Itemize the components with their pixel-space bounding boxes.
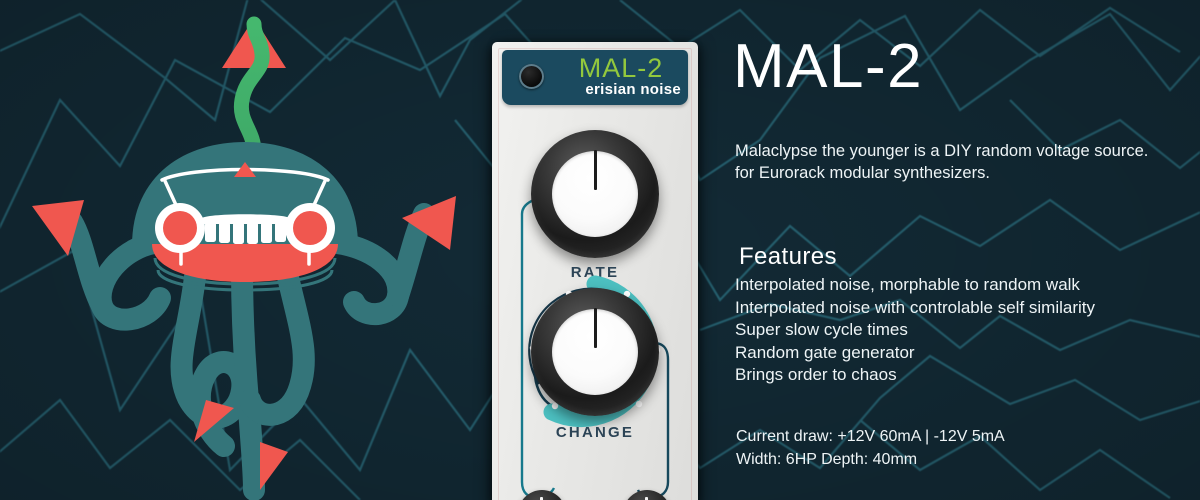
spec-dimensions: Width: 6HP Depth: 40mm bbox=[736, 448, 1196, 471]
change-knob-pointer bbox=[594, 308, 597, 348]
page-title: MAL-2 bbox=[733, 36, 923, 98]
product-description: Malaclypse the younger is a DIY random v… bbox=[735, 140, 1195, 184]
led-indicator-icon bbox=[519, 64, 544, 89]
module-subtitle: erisian noise bbox=[557, 81, 685, 98]
change-knob[interactable] bbox=[531, 288, 659, 416]
features-list: Interpolated noise, morphable to random … bbox=[735, 274, 1195, 387]
list-item: Interpolated noise with controlable self… bbox=[735, 297, 1195, 320]
product-info-column: MAL-2 Malaclypse the younger is a DIY ra… bbox=[733, 0, 1200, 500]
rate-knob-pointer bbox=[594, 150, 597, 190]
rate-knob[interactable] bbox=[531, 130, 659, 258]
description-line-1: Malaclypse the younger is a DIY random v… bbox=[735, 140, 1195, 162]
product-banner: MAL-2 erisian noise RATE CHANGE bbox=[0, 0, 1200, 500]
mascot-illustration bbox=[10, 10, 480, 500]
change-knob-label: CHANGE bbox=[492, 424, 698, 441]
spec-current-draw: Current draw: +12V 60mA | -12V 5mA bbox=[736, 425, 1196, 448]
eurorack-module-panel: MAL-2 erisian noise RATE CHANGE bbox=[492, 42, 698, 500]
list-item: Random gate generator bbox=[735, 342, 1195, 365]
list-item: Super slow cycle times bbox=[735, 319, 1195, 342]
description-line-2: for Eurorack modular synthesizers. bbox=[735, 162, 1195, 184]
list-item: Interpolated noise, morphable to random … bbox=[735, 274, 1195, 297]
panel-header-band: MAL-2 erisian noise bbox=[502, 50, 688, 105]
list-item: Brings order to chaos bbox=[735, 364, 1195, 387]
features-heading: Features bbox=[739, 243, 837, 271]
module-name: MAL-2 bbox=[557, 53, 685, 83]
specs-block: Current draw: +12V 60mA | -12V 5mA Width… bbox=[736, 425, 1196, 471]
